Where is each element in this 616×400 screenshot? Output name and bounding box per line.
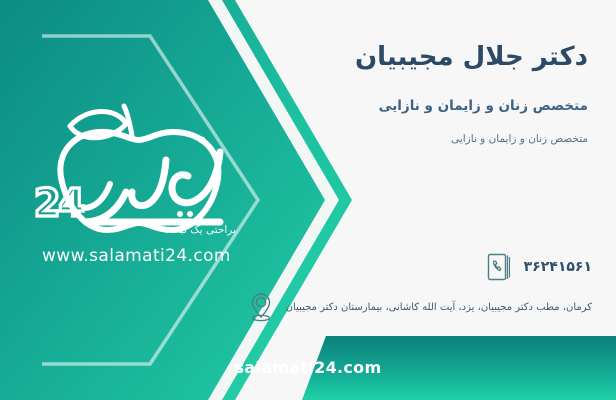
logo-url[interactable]: www.salamati24.com (42, 246, 231, 266)
specialty-primary: متخصص زنان و زایمان و نازایی (379, 98, 588, 114)
phone-book-icon (484, 250, 514, 284)
brand-logo: 24 براحتی یک لبخند www.salamati24.com (14, 96, 264, 286)
logo-tagline: براحتی یک لبخند (165, 224, 236, 236)
phone-number: ۳۶۲۴۱۵۶۱ (524, 259, 592, 275)
business-card: 24 براحتی یک لبخند www.salamati24.com دک… (0, 0, 616, 400)
contact-row-phone[interactable]: ۳۶۲۴۱۵۶۱ (484, 250, 592, 284)
footer-url[interactable]: salamati24.com (0, 358, 616, 377)
footer-bar: salamati24.com (0, 336, 616, 400)
badge-24-icon: 24 (34, 181, 83, 225)
svg-text:24: 24 (34, 181, 83, 225)
contact-row-address[interactable]: کرمان، مطب دکتر مجیبیان، یزد، آیت الله ک… (246, 290, 592, 324)
specialty-secondary: متخصص زنان و زایمان و نازایی (451, 133, 588, 145)
address-text: کرمان، مطب دکتر مجیبیان، یزد، آیت الله ک… (286, 302, 592, 313)
map-pin-icon (246, 290, 276, 324)
page-title: دکتر جلال مجیبیان (355, 42, 588, 72)
